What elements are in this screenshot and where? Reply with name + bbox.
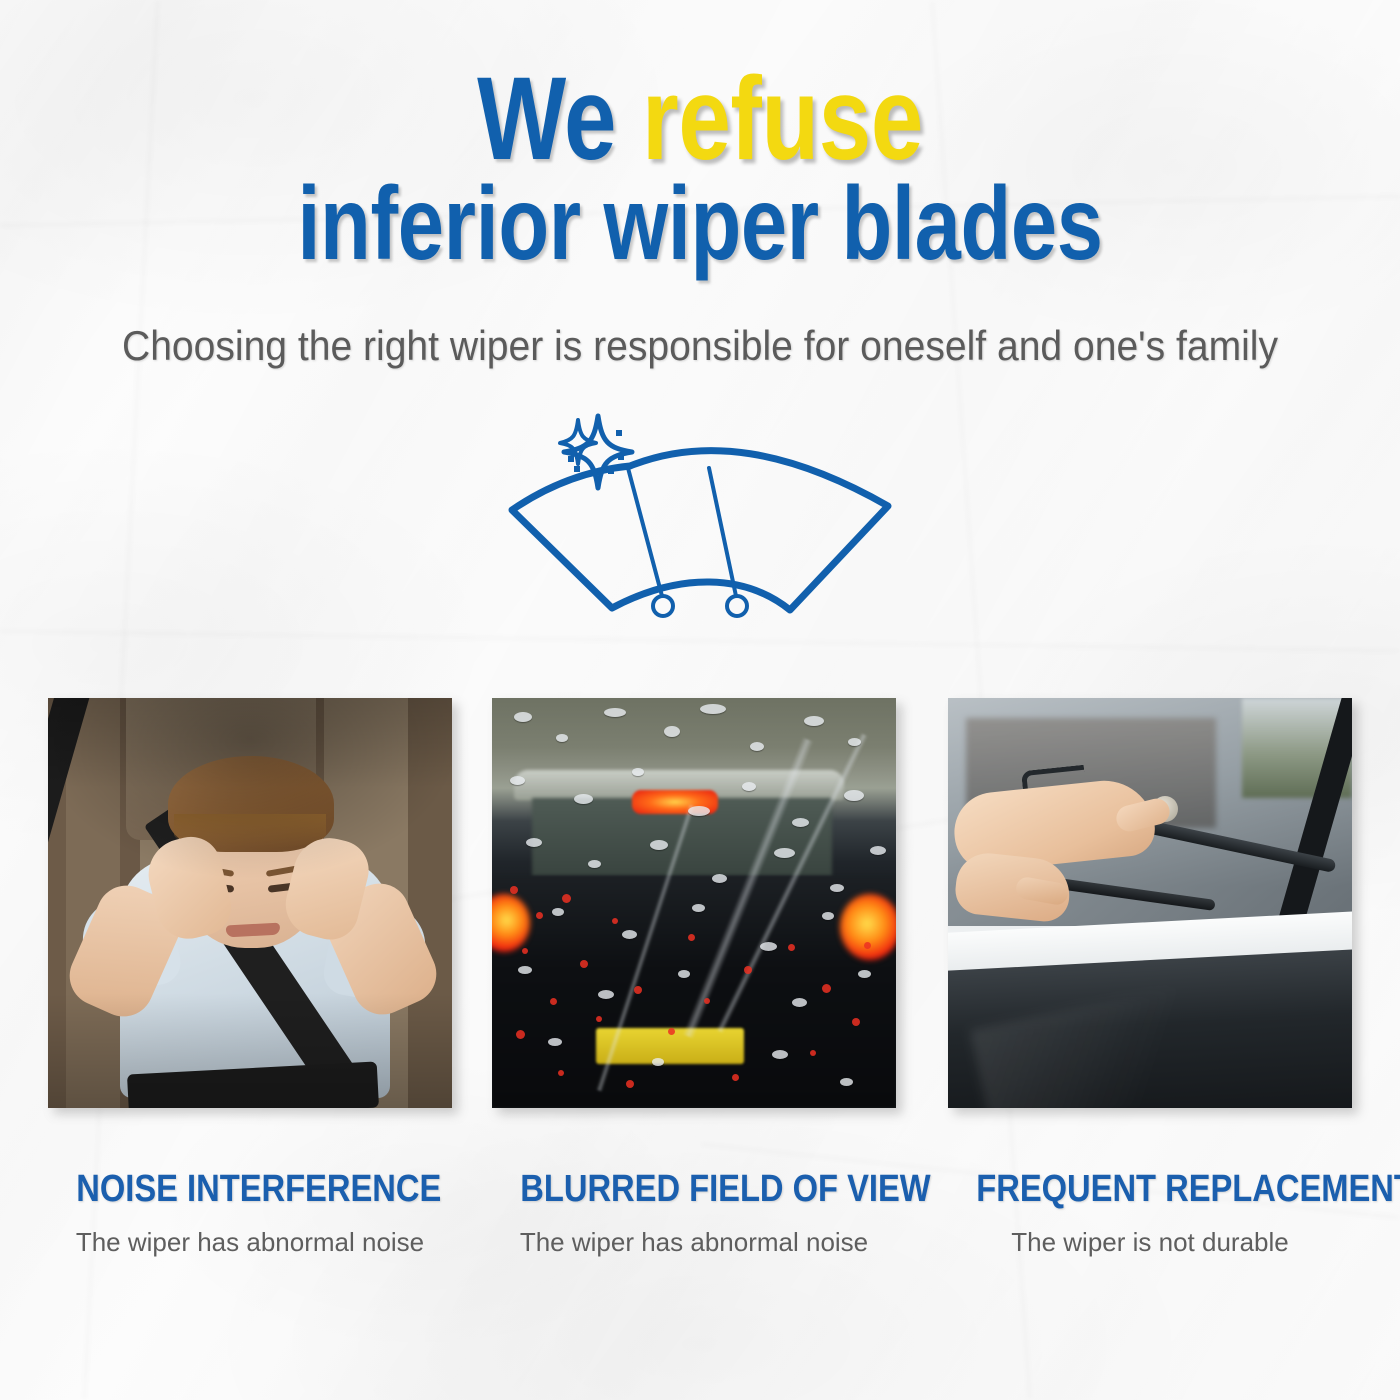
caption-subtitle: The wiper is not durable <box>948 1227 1352 1258</box>
caption-title: BLURRED FIELD OF VIEW <box>520 1168 867 1211</box>
caption-frequent-replacement: FREQUENT REPLACEMENT The wiper is not du… <box>948 1168 1352 1258</box>
headline-block: We refuse inferior wiper blades <box>0 62 1400 276</box>
poster-background: We refuse inferior wiper blades Choosing… <box>0 0 1400 1400</box>
subtitle-text: Choosing the right wiper is responsible … <box>49 322 1351 370</box>
hand-replacing-wiper-blade <box>948 698 1352 1108</box>
windshield-wiper-sparkle-icon <box>490 398 910 628</box>
caption-noise-interference: NOISE INTERFERENCE The wiper has abnorma… <box>48 1168 452 1258</box>
caption-blurred-field-of-view: BLURRED FIELD OF VIEW The wiper has abno… <box>492 1168 896 1258</box>
caption-title: FREQUENT REPLACEMENT <box>976 1168 1323 1211</box>
headline-line-2: inferior wiper blades <box>140 174 1260 276</box>
seat-shading-overlay <box>48 698 452 1108</box>
paper-crease <box>0 630 1400 652</box>
caption-subtitle: The wiper has abnormal noise <box>48 1227 452 1258</box>
rain-droplets <box>492 698 896 1108</box>
rain-streaked-windshield <box>492 698 896 1108</box>
headline-line-1: We refuse <box>140 62 1260 178</box>
feature-image-noise-interference <box>48 698 452 1108</box>
boy-covering-ears-in-car <box>48 698 452 1108</box>
feature-image-blurred-field-of-view <box>492 698 896 1108</box>
feature-image-frequent-replacement <box>948 698 1352 1108</box>
caption-subtitle: The wiper has abnormal noise <box>492 1227 896 1258</box>
caption-title: NOISE INTERFERENCE <box>76 1168 423 1211</box>
